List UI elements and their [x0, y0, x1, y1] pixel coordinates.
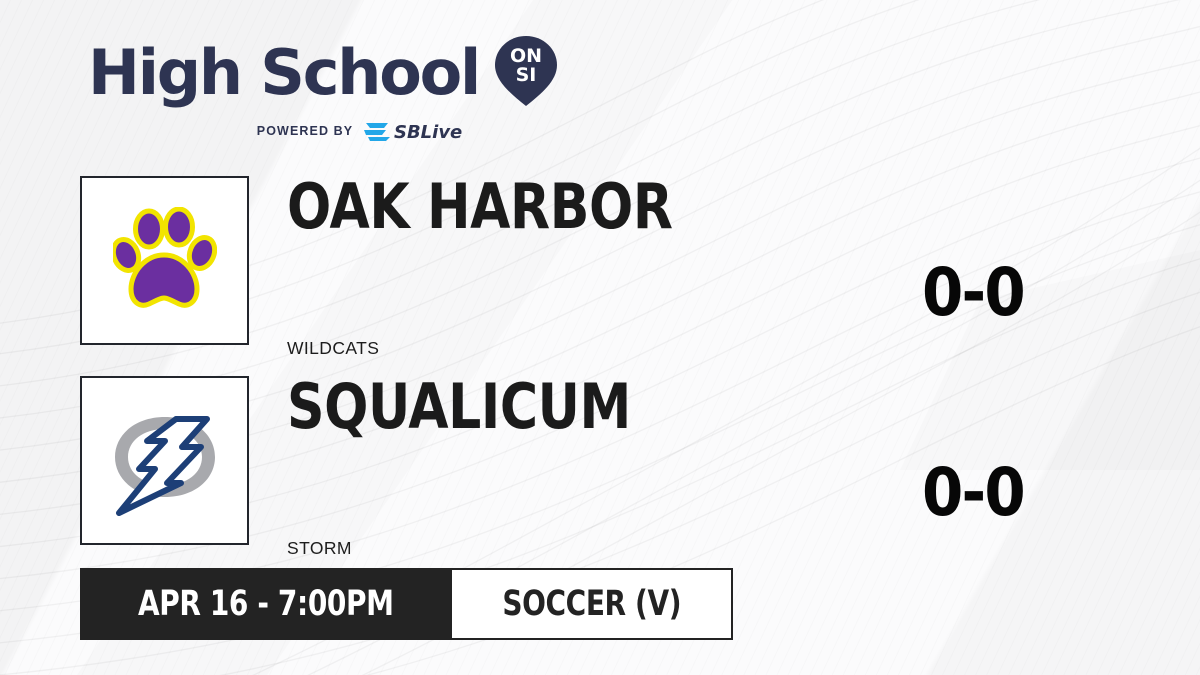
- onsi-pin-icon: ON SI: [493, 34, 559, 113]
- game-sport-label: SOCCER (V): [502, 584, 681, 624]
- team-logo-box-squalicum: [80, 376, 249, 545]
- brand-logo: High School ON SI POWERED BY: [88, 32, 559, 142]
- sblive-wordmark: SBLive: [394, 122, 462, 142]
- team-mascot-squalicum: STORM: [287, 538, 352, 559]
- matchup-graphic: High School ON SI POWERED BY: [0, 0, 1200, 675]
- team-name-squalicum: SQUALICUM: [287, 376, 631, 438]
- game-datetime-label: APR 16 - 7:00PM: [138, 584, 394, 624]
- sblive-s-icon: [364, 123, 390, 141]
- lightning-bolt-icon: [103, 403, 227, 519]
- onsi-pin-line2: SI: [516, 64, 537, 86]
- team-mascot-oak-harbor: WILDCATS: [287, 338, 379, 359]
- game-sport-panel: SOCCER (V): [452, 568, 733, 640]
- team-name-oak-harbor: OAK HARBOR: [287, 176, 673, 238]
- team-record-oak-harbor: 0-0: [922, 260, 1024, 326]
- powered-by-label: POWERED BY: [257, 124, 353, 138]
- brand-title: High School: [88, 44, 479, 101]
- team-record-squalicum: 0-0: [922, 460, 1024, 526]
- team-logo-box-oak-harbor: [80, 176, 249, 345]
- game-datetime-panel: APR 16 - 7:00PM: [80, 568, 452, 640]
- sblive-logo: SBLive: [362, 120, 498, 142]
- paw-print-icon: [113, 207, 217, 315]
- game-info-banner: APR 16 - 7:00PM SOCCER (V): [80, 568, 733, 640]
